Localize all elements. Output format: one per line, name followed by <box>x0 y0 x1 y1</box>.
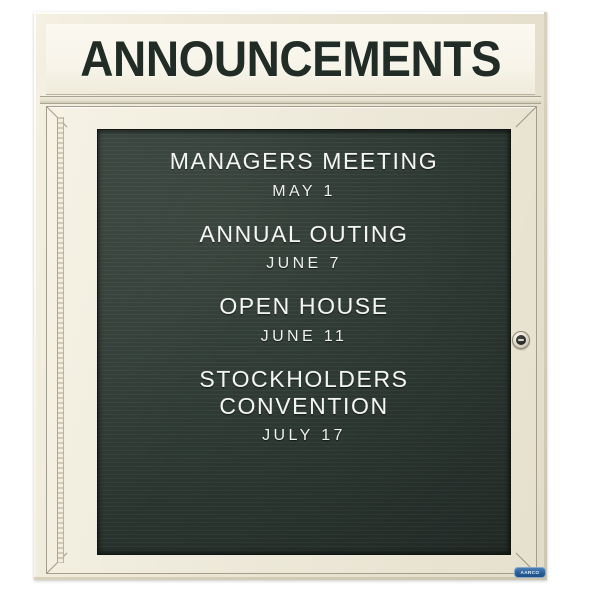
page-title: ANNOUNCEMENTS <box>80 34 501 84</box>
announcement-title-line: STOCKHOLDERS <box>98 366 510 393</box>
announcement-date: JUNE 7 <box>98 255 510 273</box>
announcement-title-line: MANAGERS MEETING <box>98 148 510 175</box>
announcement-date: JULY 17 <box>98 427 510 445</box>
announcement-title: ANNUAL OUTING <box>98 221 510 248</box>
lock-icon[interactable] <box>512 331 530 349</box>
list-item: ANNUAL OUTING JUNE 7 <box>98 221 510 274</box>
case-edge-left <box>34 12 36 580</box>
announcement-date: MAY 1 <box>98 183 510 201</box>
announcement-title-line: CONVENTION <box>98 393 510 420</box>
announcement-title-line: OPEN HOUSE <box>98 293 510 320</box>
piano-hinge-icon <box>57 117 64 563</box>
list-item: MANAGERS MEETING MAY 1 <box>98 148 510 201</box>
case-edge-right <box>544 12 547 580</box>
announcement-date: JUNE 11 <box>98 328 510 346</box>
cabinet-door-frame[interactable]: MANAGERS MEETING MAY 1 ANNUAL OUTING JUN… <box>46 106 537 574</box>
announcement-title: OPEN HOUSE <box>98 293 510 320</box>
header-panel: ANNOUNCEMENTS <box>46 24 535 95</box>
case-edge-bottom <box>34 577 547 580</box>
manufacturer-badge-label: AARCO <box>521 570 540 576</box>
announcement-title-line: ANNUAL OUTING <box>98 221 510 248</box>
header-divider-rail <box>40 96 541 104</box>
case-edge-top <box>34 12 547 14</box>
list-item: OPEN HOUSE JUNE 11 <box>98 293 510 346</box>
list-item: STOCKHOLDERS CONVENTION JULY 17 <box>98 366 510 445</box>
lock-cylinder <box>516 335 526 345</box>
announcement-title: MANAGERS MEETING <box>98 148 510 175</box>
announcement-board-scene: ANNOUNCEMENTS MANAGERS MEETING MAY 1 <box>0 0 600 600</box>
announcement-title: STOCKHOLDERS CONVENTION <box>98 366 510 419</box>
lock-keyhole-slot <box>518 339 524 341</box>
announcement-list: MANAGERS MEETING MAY 1 ANNUAL OUTING JUN… <box>98 130 510 554</box>
letter-board-surface: MANAGERS MEETING MAY 1 ANNUAL OUTING JUN… <box>97 129 511 555</box>
manufacturer-badge: AARCO <box>514 567 546 578</box>
